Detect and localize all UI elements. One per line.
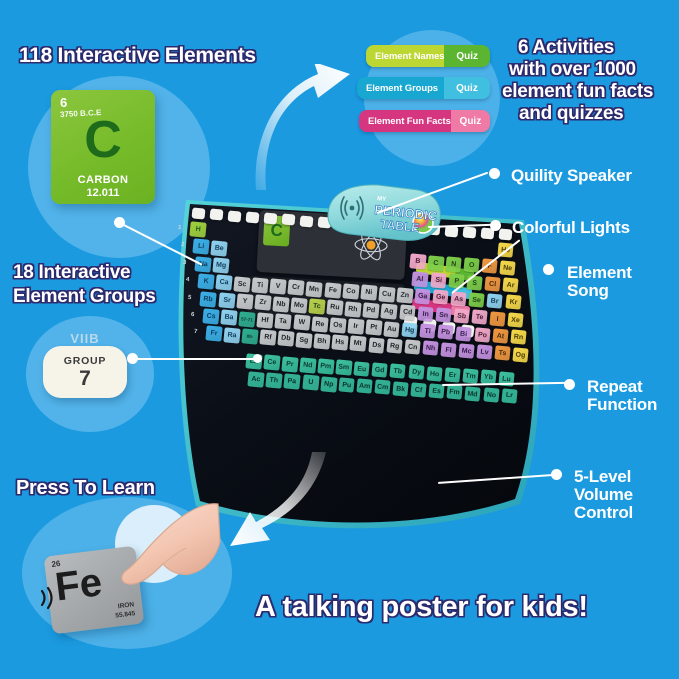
element-tile[interactable]: Pr	[281, 356, 298, 372]
element-tile[interactable]: Ar	[502, 277, 518, 293]
element-tile[interactable]: Sb	[453, 308, 469, 324]
element-tile[interactable]: Ds	[368, 337, 385, 353]
element-tile[interactable]: B	[409, 254, 426, 270]
element-tile[interactable]: Pa	[284, 373, 301, 389]
element-tile[interactable]: Bk	[392, 381, 408, 397]
element-tile[interactable]: Sm	[335, 360, 352, 376]
element-tile[interactable]: Tm	[462, 368, 478, 383]
element-tile[interactable]: Rh	[345, 301, 362, 317]
element-tile[interactable]: Re	[311, 316, 328, 332]
element-tile[interactable]: Tb	[390, 363, 407, 379]
element-tile[interactable]: Os	[329, 317, 346, 333]
group-button[interactable]	[227, 210, 241, 222]
iron-symbol: Fe	[53, 562, 104, 607]
element-tile[interactable]: Nd	[299, 357, 316, 373]
element-tile[interactable]: Nb	[272, 296, 289, 312]
element-tile[interactable]: Mc	[458, 343, 474, 359]
callout-label-volume-line1: 5-Level	[574, 467, 631, 486]
element-tile[interactable]: Mg	[213, 257, 231, 274]
element-tile[interactable]: Dy	[408, 365, 424, 381]
callout-dot-groups-end	[253, 354, 262, 363]
curved-arrow-icon	[252, 64, 372, 194]
element-tile[interactable]: Pb	[438, 325, 454, 341]
element-tile[interactable]: Pm	[317, 358, 334, 374]
element-tile[interactable]: Ho	[426, 366, 442, 382]
element-tile[interactable]: Si	[430, 272, 447, 288]
element-tile[interactable]: Ts	[495, 346, 511, 361]
element-tile[interactable]: Pt	[365, 320, 382, 336]
callout-label-repeat-line1: Repeat	[587, 377, 643, 396]
element-tile[interactable]: Cu	[378, 286, 395, 302]
element-tile[interactable]: Fm	[447, 385, 463, 400]
element-tile[interactable]: Ir	[347, 318, 364, 334]
element-tile[interactable]: Cr	[288, 280, 305, 296]
element-tile[interactable]: Sc	[233, 276, 250, 293]
element-tile[interactable]: Pd	[363, 302, 380, 318]
callout-dot-speaker	[489, 168, 500, 179]
group-button[interactable]	[191, 207, 205, 219]
group-button[interactable]	[300, 215, 314, 227]
element-tile[interactable]: Co	[342, 283, 359, 299]
group-button[interactable]	[209, 209, 223, 221]
element-tile[interactable]: Mo	[290, 297, 307, 313]
element-tile[interactable]: Tl	[420, 323, 437, 339]
element-tile[interactable]: Po	[474, 327, 490, 343]
element-tile[interactable]: In	[417, 306, 434, 322]
element-tile[interactable]: Fe	[324, 282, 341, 298]
element-tile[interactable]: Lr	[501, 388, 517, 403]
callout-label-volume-line2: Volume	[574, 485, 633, 504]
headline-activities-line3: element fun facts	[502, 82, 653, 102]
callout-dot-elements	[114, 217, 125, 228]
element-tile[interactable]: Sg	[295, 332, 312, 348]
element-tile[interactable]: Ta	[275, 313, 292, 329]
group-button[interactable]	[245, 211, 259, 223]
element-tile[interactable]: Nh	[422, 341, 438, 357]
element-tile[interactable]: V	[270, 278, 287, 294]
carbon-name: CARBON	[51, 174, 155, 186]
element-tile[interactable]: Cm	[374, 380, 391, 396]
element-tile[interactable]: Gd	[372, 362, 389, 378]
element-tile[interactable]: Er	[444, 367, 460, 382]
callout-dot-lights	[490, 220, 501, 231]
element-tile[interactable]: Zn	[396, 287, 413, 303]
headline-activities-line4: and quizzes	[519, 104, 623, 124]
element-tile[interactable]: Bi	[456, 326, 472, 342]
element-tile[interactable]: W	[293, 315, 310, 331]
element-tile[interactable]: Ac	[248, 371, 265, 387]
carbon-symbol: C	[51, 114, 155, 166]
headline-press-to-learn: Press To Learn	[16, 478, 155, 499]
element-tile[interactable]: Y	[236, 293, 253, 309]
element-tile[interactable]: Fl	[440, 342, 456, 358]
callout-label-volume-line3: Control	[574, 503, 633, 522]
period-number: 2	[180, 242, 184, 248]
element-tile[interactable]: Ga	[414, 288, 431, 304]
element-tile[interactable]: Cl	[484, 276, 500, 292]
element-tile[interactable]: Bh	[314, 333, 331, 349]
element-tile[interactable]: Hs	[332, 334, 349, 350]
headline-activities-line2: with over 1000	[509, 60, 636, 80]
quiz-badge-tag: Quiz	[444, 45, 490, 67]
element-tile[interactable]: C	[427, 255, 444, 271]
element-tile[interactable]: U	[302, 375, 319, 391]
carbon-atomic-mass: 12.011	[51, 187, 155, 199]
element-tile[interactable]: N	[445, 256, 462, 272]
element-tile[interactable]: Kr	[505, 295, 521, 311]
element-tile[interactable]: Ni	[360, 285, 377, 301]
group-pill: GROUP 7	[43, 346, 127, 398]
period-number: 3	[183, 260, 187, 266]
element-tile[interactable]: Th	[266, 372, 283, 388]
element-tile[interactable]: Ag	[381, 303, 398, 319]
element-tile[interactable]: Te	[471, 310, 487, 326]
element-tile[interactable]: Ra	[223, 327, 240, 343]
element-tile[interactable]: Ti	[251, 277, 268, 293]
element-tile[interactable]: Tc	[308, 298, 325, 314]
element-tile[interactable]: Br	[487, 293, 503, 309]
element-tile[interactable]: Rg	[386, 338, 403, 354]
quiz-badge-label: Element Fun Facts	[359, 110, 451, 132]
element-tile[interactable]: Db	[277, 331, 294, 347]
element-tile[interactable]: Eu	[354, 361, 371, 377]
element-tile[interactable]: Ge	[432, 290, 449, 306]
element-tile[interactable]: H	[189, 221, 207, 238]
group-label: GROUP	[64, 355, 107, 367]
carbon-element-card: 6 3750 B.C.E C CARBON 12.011	[51, 90, 155, 204]
quiz-badge-label: Element Names	[366, 45, 444, 67]
element-tile[interactable]: K	[197, 273, 215, 290]
headline-activities-line1: 6 Activities	[518, 38, 614, 58]
callout-dot-song	[543, 264, 554, 275]
element-tile[interactable]: Ba	[220, 310, 237, 326]
period-number: 1	[178, 225, 182, 231]
element-tile[interactable]: Lv	[476, 344, 492, 359]
group-badge: VIIB GROUP 7	[43, 331, 127, 398]
tagline: A talking poster for kids!	[255, 592, 588, 623]
element-tile[interactable]: At	[492, 328, 508, 343]
group-button[interactable]	[463, 226, 477, 238]
quiz-badge-label: Element Groups	[357, 77, 444, 99]
element-tile[interactable]: Zr	[254, 295, 271, 311]
period-number: 5	[188, 294, 192, 300]
period-number: 4	[186, 277, 190, 283]
callout-dot-groups	[127, 353, 138, 364]
element-tile[interactable]: Li	[192, 239, 210, 256]
callout-label-repeat-line2: Function	[587, 395, 657, 414]
element-tile[interactable]: Cn	[404, 339, 421, 355]
group-button[interactable]	[499, 229, 513, 241]
period-number: 6	[191, 312, 195, 318]
element-tile[interactable]: Rn	[510, 330, 526, 345]
period-number: 7	[193, 329, 197, 335]
group-button[interactable]	[282, 214, 296, 226]
element-tile[interactable]: Se	[469, 292, 485, 308]
curved-arrow-icon	[200, 450, 330, 560]
carbon-atomic-number: 6	[60, 95, 67, 110]
element-tile[interactable]: Na	[194, 256, 212, 273]
element-tile[interactable]: Md	[465, 386, 481, 401]
infographic-canvas: 118 Interactive Elements 6 3750 B.C.E C …	[0, 0, 679, 679]
callout-label-song-line2: Song	[567, 281, 609, 300]
element-tile[interactable]: Fr	[205, 326, 222, 342]
element-tile[interactable]: Ce	[263, 355, 280, 371]
callout-label-song-line1: Element	[567, 263, 632, 282]
sound-wave-icon	[36, 585, 58, 611]
iron-atomic-mass: 55.845	[115, 610, 136, 619]
callout-label-speaker: Quility Speaker	[511, 166, 632, 185]
element-tile[interactable]: Np	[320, 376, 337, 392]
element-tile[interactable]: Og	[513, 347, 529, 362]
element-tile[interactable]: I	[489, 311, 505, 327]
element-tile[interactable]: Pu	[338, 377, 355, 393]
quiz-badge-element-names[interactable]: Element Names Quiz	[366, 45, 490, 67]
element-tile[interactable]: Sr	[218, 292, 235, 309]
group-roman-numeral: VIIB	[43, 331, 127, 346]
group-number: 7	[79, 368, 91, 389]
element-tile[interactable]: Rf	[259, 329, 276, 345]
headline-elements-count: 118 Interactive Elements	[19, 45, 256, 67]
callout-label-lights: Colorful Lights	[512, 218, 630, 237]
element-tile[interactable]: 89-	[241, 328, 258, 344]
element-tile[interactable]: Hf	[257, 312, 274, 328]
quiz-badge-tag: Quiz	[451, 110, 490, 132]
element-tile[interactable]: Ne	[500, 260, 516, 276]
element-tile[interactable]: Ru	[326, 300, 343, 316]
element-tile[interactable]: Sn	[435, 307, 452, 323]
element-tile[interactable]: Mn	[306, 281, 323, 297]
quiz-badge-element-groups[interactable]: Element Groups Quiz	[357, 77, 490, 99]
element-tile[interactable]: Hg	[401, 322, 418, 338]
element-tile[interactable]: Cd	[399, 305, 416, 321]
callout-dot-repeat	[564, 379, 575, 390]
headline-groups-line1: 18 Interactive	[13, 263, 130, 283]
element-tile[interactable]: Ca	[215, 275, 232, 292]
element-tile[interactable]: Cf	[410, 382, 426, 398]
element-tile[interactable]: No	[483, 387, 499, 402]
callout-dot-volume	[551, 469, 562, 480]
element-tile[interactable]: Mt	[350, 336, 367, 352]
callout-line-groups	[133, 358, 258, 360]
element-tile[interactable]: Rb	[200, 291, 217, 308]
element-tile[interactable]: Au	[383, 321, 400, 337]
group-button[interactable]	[263, 212, 277, 224]
element-tile[interactable]: Xe	[507, 312, 523, 327]
element-tile[interactable]: Am	[356, 378, 373, 394]
element-tile[interactable]: Be	[210, 240, 228, 257]
quiz-badge-element-fun-facts[interactable]: Element Fun Facts Quiz	[359, 110, 490, 132]
element-tile[interactable]: Cs	[202, 308, 219, 325]
quiz-badge-tag: Quiz	[444, 77, 490, 99]
element-tile[interactable]: Al	[412, 271, 429, 287]
element-tile[interactable]: 57-71	[239, 311, 256, 327]
headline-groups-line2: Element Groups	[13, 287, 156, 307]
